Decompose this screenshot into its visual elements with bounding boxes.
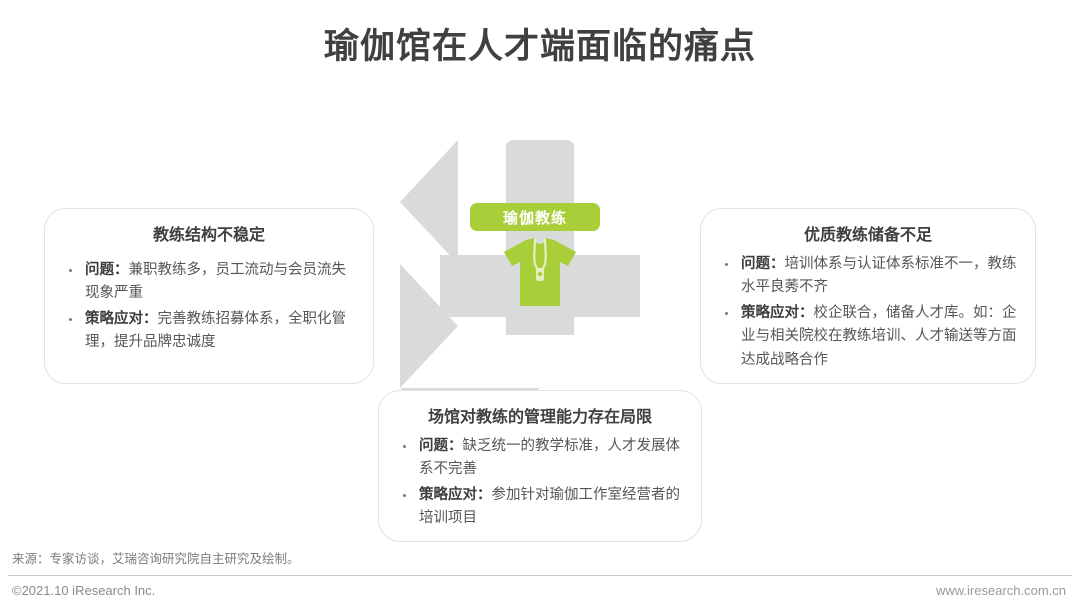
list-item: 问题：兼职教练多，员工流动与会员流失现象严重 (63, 259, 355, 306)
bullet-label: 问题： (419, 438, 463, 454)
info-box-venue-management: 场馆对教练的管理能力存在局限 问题：缺乏统一的教学标准，人才发展体系不完善 策略… (378, 390, 702, 542)
info-box-quality-coach-reserve: 优质教练储备不足 问题：培训体系与认证体系标准不一，教练水平良莠不齐 策略应对：… (700, 208, 1036, 384)
bullet-list: 问题：兼职教练多，员工流动与会员流失现象严重 策略应对：完善教练招募体系，全职化… (63, 259, 355, 355)
list-item: 策略应对：参加针对瑜伽工作室经营者的培训项目 (397, 484, 683, 531)
box-title: 优质教练储备不足 (719, 221, 1017, 245)
coach-shirt-whistle-icon (502, 236, 578, 310)
bullet-label: 策略应对： (85, 311, 158, 327)
source-note: 来源：专家访谈，艾瑞咨询研究院自主研究及绘制。 (12, 548, 300, 567)
footer-divider (8, 575, 1072, 576)
list-item: 策略应对：校企联合，储备人才库。如：企业与相关院校在教练培训、人才输送等方面达成… (719, 302, 1017, 372)
copyright-text: ©2021.10 iResearch Inc. (12, 583, 155, 598)
list-item: 策略应对：完善教练招募体系，全职化管理，提升品牌忠诚度 (63, 308, 355, 355)
info-box-coach-structure: 教练结构不稳定 问题：兼职教练多，员工流动与会员流失现象严重 策略应对：完善教练… (44, 208, 374, 384)
bullet-label: 策略应对： (741, 305, 814, 321)
page-title: 瑜伽馆在人才端面临的痛点 (0, 18, 1080, 69)
bullet-label: 问题： (85, 262, 129, 278)
bullet-list: 问题：培训体系与认证体系标准不一，教练水平良莠不齐 策略应对：校企联合，储备人才… (719, 253, 1017, 372)
box-title: 教练结构不稳定 (63, 221, 355, 245)
center-badge-label: 瑜伽教练 (503, 207, 567, 228)
center-badge-yoga-coach: 瑜伽教练 (470, 203, 600, 231)
website-url: www.iresearch.com.cn (936, 583, 1066, 598)
bullet-label: 策略应对： (419, 487, 492, 503)
box-title: 场馆对教练的管理能力存在局限 (397, 403, 683, 427)
bullet-list: 问题：缺乏统一的教学标准，人才发展体系不完善 策略应对：参加针对瑜伽工作室经营者… (397, 435, 683, 531)
list-item: 问题：缺乏统一的教学标准，人才发展体系不完善 (397, 435, 683, 482)
list-item: 问题：培训体系与认证体系标准不一，教练水平良莠不齐 (719, 253, 1017, 300)
arrow-left-icon (400, 140, 458, 264)
bullet-label: 问题： (741, 256, 785, 272)
